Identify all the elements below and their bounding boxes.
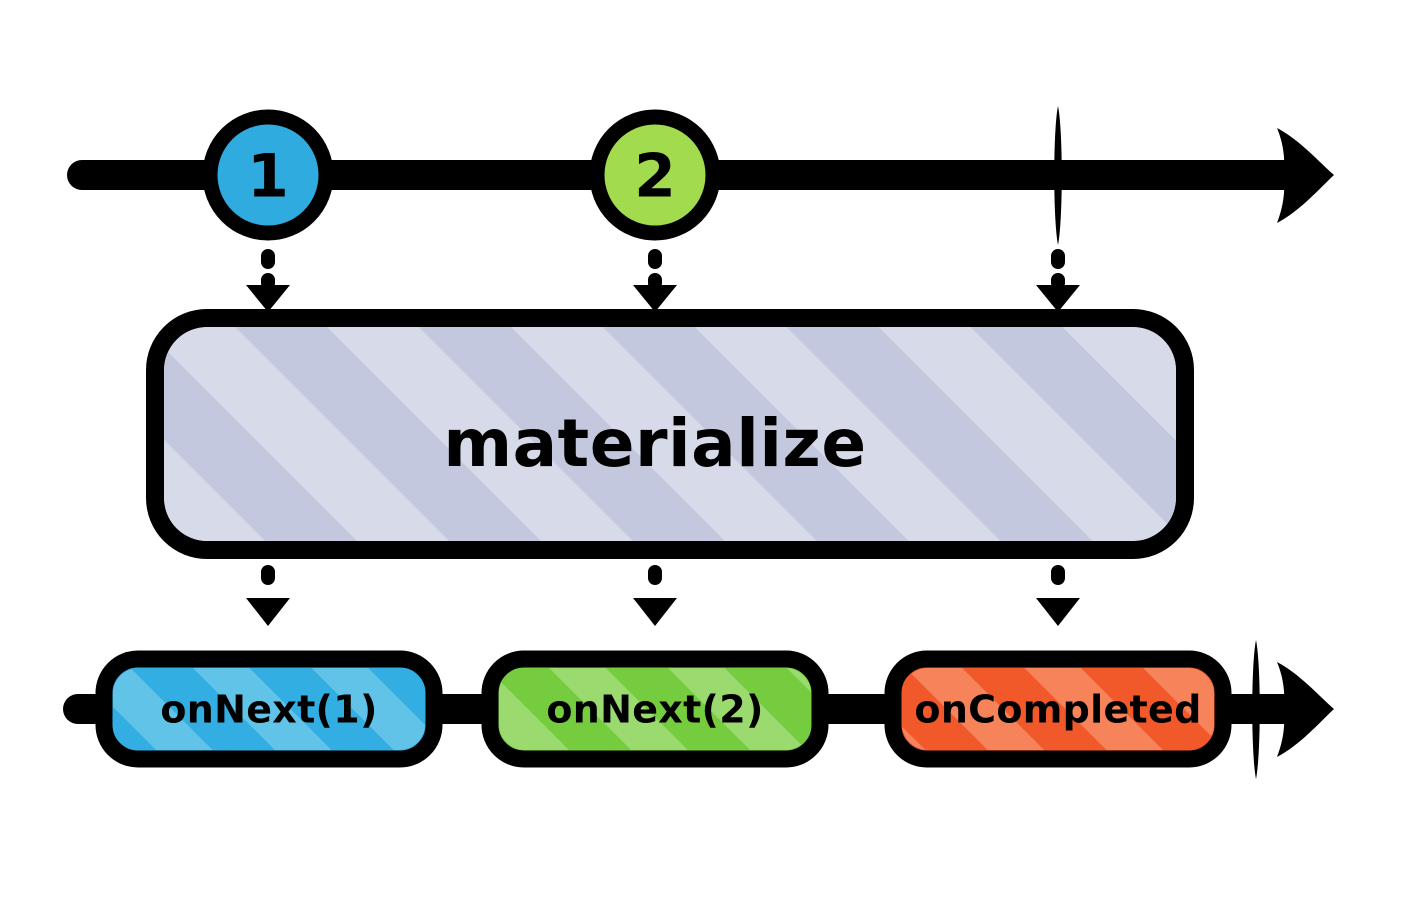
dashed-arrow-down-1-head xyxy=(246,285,290,312)
source-marble-1-label: 1 xyxy=(247,142,289,212)
output-notification-onnext-1[interactable]: onNext(1) xyxy=(104,659,434,759)
connectors-into-operator xyxy=(246,256,1080,312)
output-notification-onnext-2-label: onNext(2) xyxy=(546,688,763,732)
source-marble-1[interactable]: 1 xyxy=(210,117,326,233)
operator-box-label: materialize xyxy=(443,405,866,482)
dashed-arrow-down-2 xyxy=(633,256,677,312)
marble-diagram-root: 1 2 xyxy=(0,0,1401,901)
dashed-arrow-out-3-head xyxy=(1036,598,1080,626)
output-completion-tick xyxy=(1252,640,1260,779)
dashed-arrow-down-2-head xyxy=(633,285,677,312)
output-timeline-arrowhead xyxy=(1277,662,1334,757)
output-notification-oncompleted-label: onCompleted xyxy=(914,688,1201,732)
dashed-arrow-out-3 xyxy=(1036,572,1080,626)
dashed-arrow-out-1 xyxy=(246,572,290,626)
dashed-arrow-out-2-head xyxy=(633,598,677,626)
source-completion-tick xyxy=(1054,106,1062,245)
operator-box[interactable]: materialize xyxy=(155,318,1185,550)
output-timeline: onNext(1) onNext(2) onCompleted xyxy=(78,640,1334,779)
dashed-arrow-down-3 xyxy=(1036,256,1080,312)
dashed-arrow-down-1 xyxy=(246,256,290,312)
output-notification-oncompleted[interactable]: onCompleted xyxy=(893,659,1223,759)
source-marble-2-label: 2 xyxy=(634,142,676,212)
marble-diagram-canvas: 1 2 xyxy=(0,0,1401,901)
source-marble-2[interactable]: 2 xyxy=(597,117,713,233)
source-timeline-arrowhead xyxy=(1277,128,1334,223)
dashed-arrow-out-2 xyxy=(633,572,677,626)
connectors-out-of-operator xyxy=(246,572,1080,626)
output-notification-onnext-1-label: onNext(1) xyxy=(160,688,377,732)
output-notification-onnext-2[interactable]: onNext(2) xyxy=(490,659,820,759)
source-timeline: 1 2 xyxy=(82,106,1334,245)
dashed-arrow-down-3-head xyxy=(1036,285,1080,312)
dashed-arrow-out-1-head xyxy=(246,598,290,626)
